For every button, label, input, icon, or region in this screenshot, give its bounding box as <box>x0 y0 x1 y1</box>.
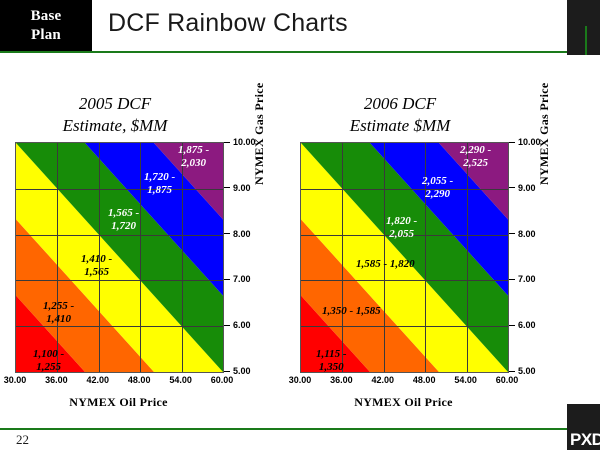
footer-divider <box>0 428 588 430</box>
y-axis-tick: 8.00 <box>224 229 251 239</box>
y-axis-tick: 9.00 <box>224 183 251 193</box>
y-axis-tick: 9.00 <box>509 183 536 193</box>
y-tick-mark <box>509 142 515 143</box>
pxd-logo: PXD <box>570 430 600 450</box>
y-axis-tick: 10.00 <box>509 137 541 147</box>
y-tick-mark <box>509 233 515 234</box>
chart-title-line1: 2005 DCF <box>0 93 230 115</box>
x-axis-tick-label: 48.00 <box>413 375 436 385</box>
x-axis: 30.0036.0042.0048.0054.0060.00 <box>0 375 240 389</box>
x-axis-tick-label: 60.00 <box>211 375 234 385</box>
y-axis-tick: 7.00 <box>509 274 536 284</box>
band-layer <box>16 143 223 372</box>
page-number: 22 <box>16 432 29 448</box>
x-axis-tick-label: 42.00 <box>87 375 110 385</box>
y-axis-title: NYMEX Gas Price <box>537 83 552 185</box>
y-tick-label: 7.00 <box>518 274 536 284</box>
y-tick-label: 8.00 <box>233 229 251 239</box>
y-axis-tick: 10.00 <box>224 137 256 147</box>
base-plan-badge-line1: Base <box>0 7 92 26</box>
y-tick-label: 8.00 <box>518 229 536 239</box>
y-axis-tick: 6.00 <box>509 320 536 330</box>
y-tick-mark <box>224 233 230 234</box>
y-tick-mark <box>224 187 230 188</box>
page-title: DCF Rainbow Charts <box>108 9 348 38</box>
header-right-black-band <box>567 0 600 55</box>
x-axis-title: NYMEX Oil Price <box>285 395 522 410</box>
slide-canvas: Base Plan DCF Rainbow Charts 2005 DCFEst… <box>0 0 600 450</box>
y-axis-title: NYMEX Gas Price <box>252 83 267 185</box>
y-tick-label: 6.00 <box>233 320 251 330</box>
y-tick-mark <box>224 325 230 326</box>
y-tick-mark <box>224 142 230 143</box>
y-tick-mark <box>509 279 515 280</box>
chart-title-line2: Estimate, $MM <box>0 115 230 137</box>
y-tick-mark <box>224 371 230 372</box>
header-divider <box>0 51 567 53</box>
band-layer <box>301 143 508 372</box>
chart-title-line1: 2006 DCF <box>285 93 515 115</box>
plot-area <box>300 142 509 373</box>
y-tick-label: 7.00 <box>233 274 251 284</box>
x-axis-tick-label: 30.00 <box>4 375 27 385</box>
y-tick-label: 6.00 <box>518 320 536 330</box>
rainbow-chart-dcf-2006: 2006 DCFEstimate $MM1,115 -1,3501,350 - … <box>285 85 570 405</box>
chart-title-line2: Estimate $MM <box>285 115 515 137</box>
chart-title: 2005 DCFEstimate, $MM <box>0 93 230 137</box>
x-axis: 30.0036.0042.0048.0054.0060.00 <box>285 375 525 389</box>
x-axis-tick-label: 54.00 <box>454 375 477 385</box>
y-tick-mark <box>509 325 515 326</box>
y-tick-label: 9.00 <box>518 183 536 193</box>
y-tick-mark <box>224 279 230 280</box>
chart-title: 2006 DCFEstimate $MM <box>285 93 515 137</box>
y-tick-mark <box>509 187 515 188</box>
x-axis-tick-label: 36.00 <box>45 375 68 385</box>
rainbow-chart-dcf-2005: 2005 DCFEstimate, $MM1,100 -1,2551,255 -… <box>0 85 285 405</box>
base-plan-badge-line2: Plan <box>0 26 92 45</box>
x-axis-tick-label: 48.00 <box>128 375 151 385</box>
base-plan-badge: Base Plan <box>0 0 92 52</box>
y-axis-tick: 7.00 <box>224 274 251 284</box>
x-axis-tick-label: 42.00 <box>372 375 395 385</box>
y-axis-tick: 8.00 <box>509 229 536 239</box>
x-axis-title: NYMEX Oil Price <box>0 395 237 410</box>
x-axis-tick-label: 54.00 <box>169 375 192 385</box>
header-right-green-accent <box>585 26 587 55</box>
plot-area <box>15 142 224 373</box>
x-axis-tick-label: 30.00 <box>289 375 312 385</box>
y-axis-tick: 6.00 <box>224 320 251 330</box>
x-axis-tick-label: 60.00 <box>496 375 519 385</box>
x-axis-tick-label: 36.00 <box>330 375 353 385</box>
y-tick-mark <box>509 371 515 372</box>
y-tick-label: 9.00 <box>233 183 251 193</box>
